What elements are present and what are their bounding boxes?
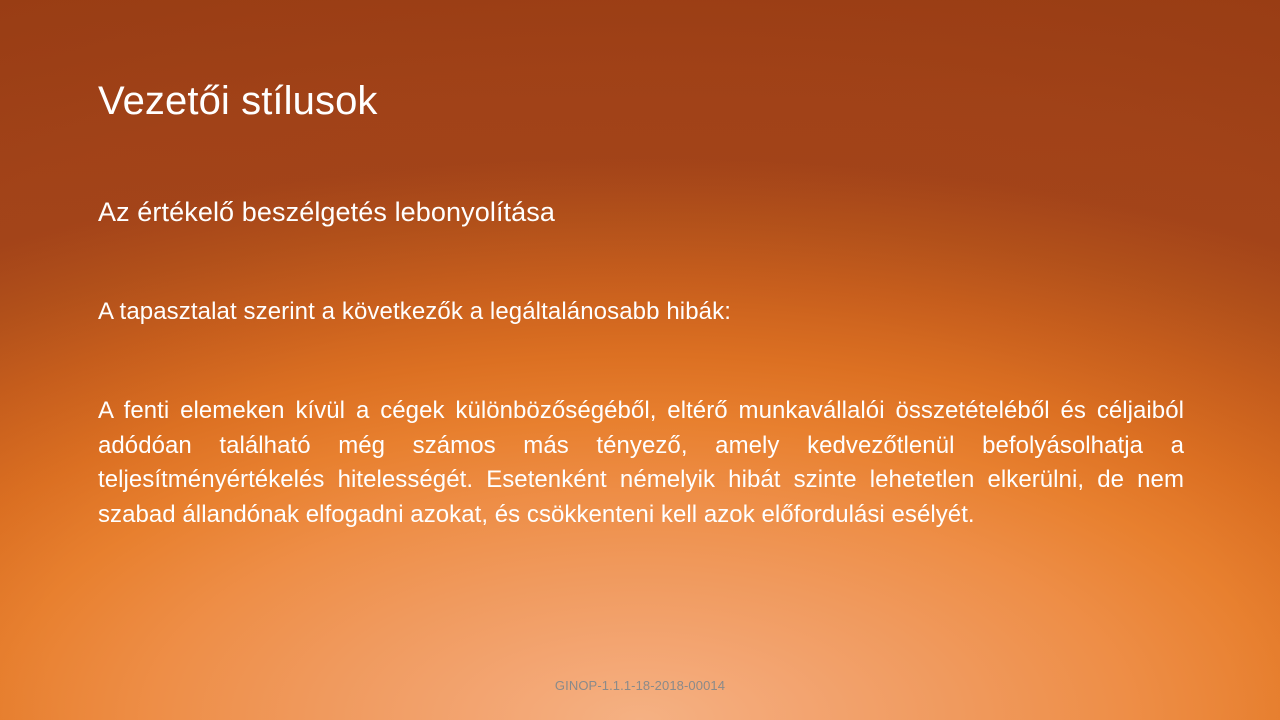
slide-title: Vezetői stílusok — [98, 78, 1188, 124]
lead-paragraph: A tapasztalat szerint a következők a leg… — [98, 298, 1188, 327]
presentation-slide: Vezetői stílusok Az értékelő beszélgetés… — [0, 0, 1280, 720]
slide-content: Vezetői stílusok Az értékelő beszélgetés… — [0, 0, 1280, 720]
footer-project-code: GINOP-1.1.1-18-2018-00014 — [0, 678, 1280, 693]
body-paragraph: A fenti elemeken kívül a cégek különböző… — [98, 394, 1184, 532]
slide-subtitle: Az értékelő beszélgetés lebonyolítása — [98, 196, 1188, 228]
